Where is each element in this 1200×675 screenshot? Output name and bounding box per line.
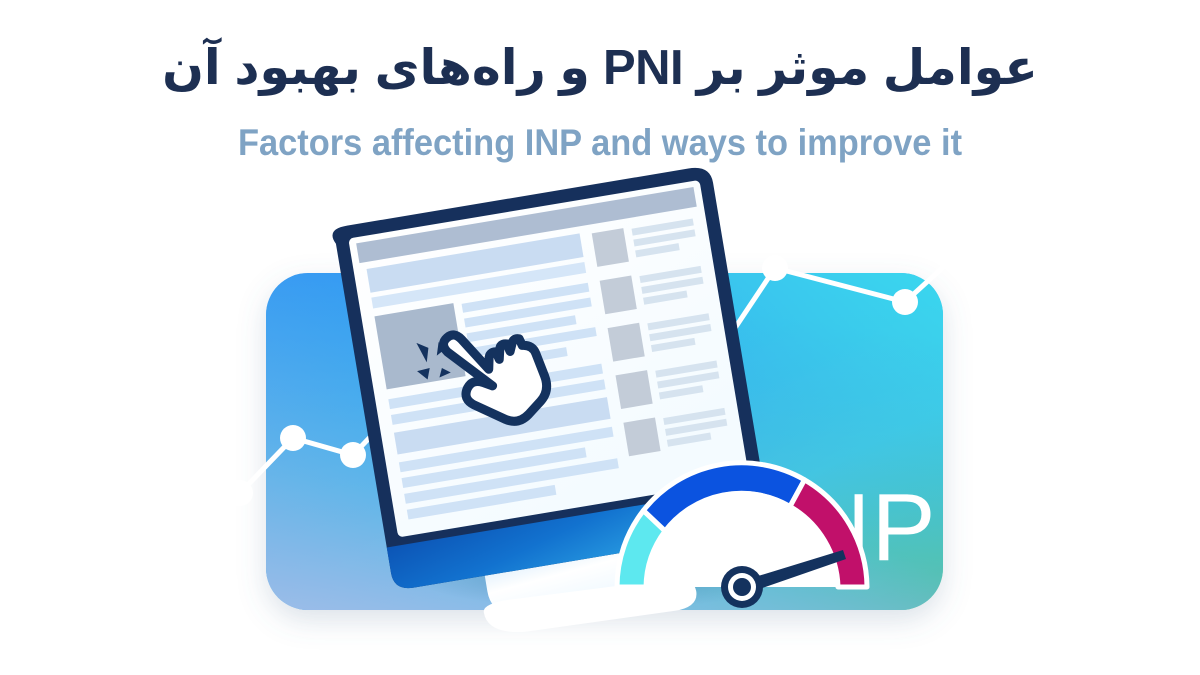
mock-thumb <box>600 275 637 314</box>
gauge-hub <box>721 566 763 608</box>
illustration: INP <box>0 150 1200 675</box>
mock-thumb <box>623 417 660 456</box>
poster-canvas: عوامل موثر بر INP و راه‌های بهبود آن Fac… <box>0 0 1200 675</box>
page-title-fa: عوامل موثر بر INP و راه‌های بهبود آن <box>0 42 1200 95</box>
mock-thumb <box>615 370 652 409</box>
mock-thumb <box>608 323 645 362</box>
polyline-node <box>762 255 788 281</box>
polyline-node <box>949 237 975 263</box>
mock-thumb <box>592 228 629 267</box>
polyline-node <box>227 480 253 506</box>
polyline-node <box>892 289 918 315</box>
polyline-node <box>340 442 366 468</box>
polyline-node <box>280 425 306 451</box>
